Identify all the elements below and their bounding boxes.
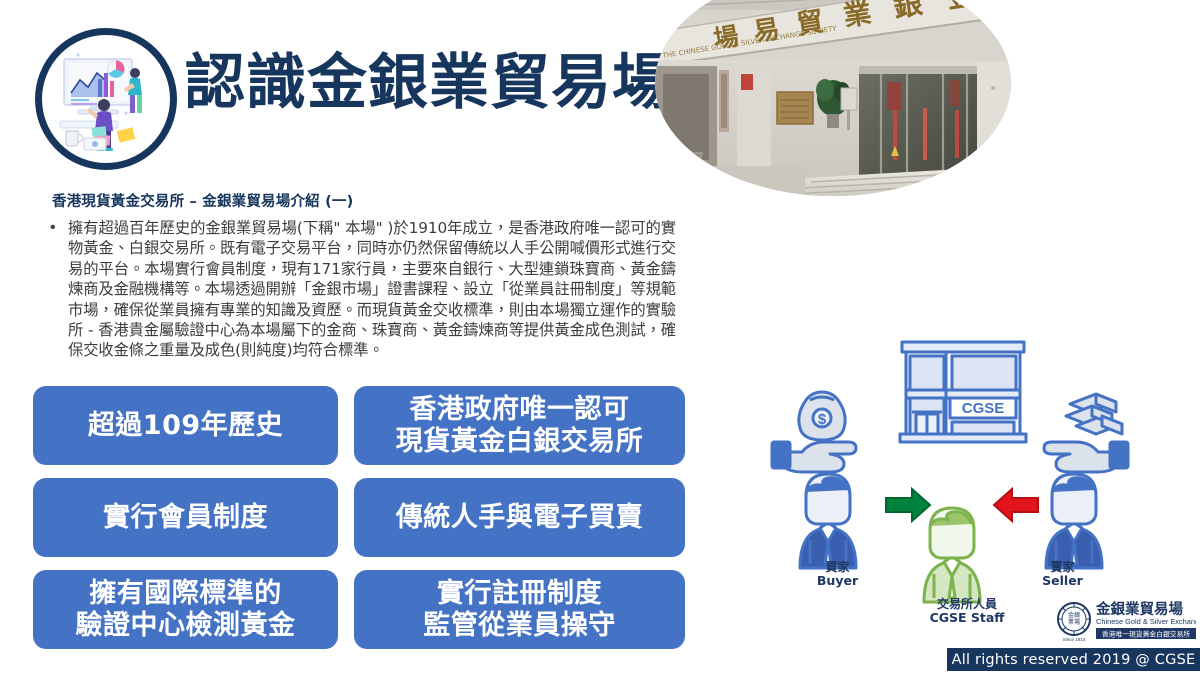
feature-box-trading-modes-line1: 傳統人手與電子買賣 [396,502,644,534]
slide-header: 認識金銀業貿易場 [0,0,660,185]
body-bullet-item: • 擁有超過百年歷史的金銀業貿易場(下稱" 本場" )於1910年成立，是香港政… [46,218,676,361]
feature-box-membership[interactable]: 實行會員制度 [33,478,338,557]
section-subheading: 香港現貨黃金交易所 – 金銀業貿易場介紹 (一) [52,190,353,211]
money-bag-dollar-symbol: $ [818,411,827,428]
cgse-staff-label-zh: 交易所人員 [912,597,1022,611]
cgse-staff-person-icon [924,508,980,602]
buyer-label: 買家 Buyer [795,560,880,588]
feature-box-sole-recognised-line1: 香港政府唯一認可 [396,394,644,426]
feature-box-membership-line1: 實行會員制度 [103,502,268,534]
cgse-building-icon [900,342,1026,442]
money-bag-hand-icon [772,392,856,472]
feature-box-assay-centre[interactable]: 擁有國際標準的 驗證中心檢測黃金 [33,570,338,649]
data-analytics-circle-icon [35,28,177,170]
cgse-staff-label: 交易所人員 CGSE Staff [912,597,1022,625]
cgse-staff-label-en: CGSE Staff [912,611,1022,625]
copyright-footer: All rights reserved 2019 @ CGSE [947,648,1200,671]
feature-box-registration[interactable]: 實行註冊制度 監管從業員操守 [354,570,685,649]
gold-bars-hand-icon [1044,394,1128,472]
page-title: 認識金銀業貿易場 [185,52,673,115]
feature-box-sole-recognised-line2: 現貨黃金白銀交易所 [396,426,644,458]
feature-box-registration-line1: 實行註冊制度 [423,578,616,610]
cgse-logo-zh-label: 金銀業貿易場 [1095,600,1183,618]
feature-box-history-line1: 超過109年歷史 [88,410,283,442]
cgse-brand-logo: 金銀 業場 Since 1910 金銀業貿易場 Chinese Gold & S… [1056,597,1196,643]
cgse-building-sign-label: CGSE [962,400,1005,417]
cgse-logo-since-label: Since 1910 [1063,637,1086,642]
slide-root: 認識金銀業貿易場 [0,0,1200,675]
buyer-label-zh: 買家 [795,560,880,574]
feature-box-trading-modes[interactable]: 傳統人手與電子買賣 [354,478,685,557]
seller-person-icon [1046,474,1102,568]
body-paragraph: 擁有超過百年歷史的金銀業貿易場(下稱" 本場" )於1910年成立，是香港政府唯… [68,218,676,361]
seller-label-zh: 賣家 [1020,560,1105,574]
bullet-marker-icon: • [46,218,68,238]
feature-box-assay-centre-line2: 驗證中心檢測黃金 [76,610,296,642]
green-right-arrow-icon [886,489,930,521]
seller-label: 賣家 Seller [1020,560,1105,588]
cgse-logo-en-label: Chinese Gold & Silver Exchange [1096,617,1196,626]
trade-flow-diagram: CGSE $ [770,330,1200,640]
red-left-arrow-icon [994,489,1038,521]
svg-text:業場: 業場 [1068,618,1080,626]
feature-box-history[interactable]: 超過109年歷史 [33,386,338,465]
buyer-person-icon [800,474,856,568]
cgse-building-entrance-photo: 金 銀 業 貿 易 場 THE CHINESE GOLD & SILVER EX… [655,0,1011,196]
feature-box-grid: 超過109年歷史 香港政府唯一認可 現貨黃金白銀交易所 實行會員制度 傳統人手與… [33,386,663,656]
svg-text:金銀: 金銀 [1068,611,1080,619]
feature-box-registration-line2: 監管從業員操守 [423,610,616,642]
seller-label-en: Seller [1020,574,1105,588]
buyer-label-en: Buyer [795,574,880,588]
feature-box-assay-centre-line1: 擁有國際標準的 [76,578,296,610]
cgse-logo-sub-zh-label: 香港唯一現貨黃金白銀交易所 [1102,630,1191,639]
feature-box-sole-recognised[interactable]: 香港政府唯一認可 現貨黃金白銀交易所 [354,386,685,465]
cgse-emblem-icon: 金銀 業場 Since 1910 [1058,603,1090,642]
svg-text:業: 業 [841,0,874,33]
